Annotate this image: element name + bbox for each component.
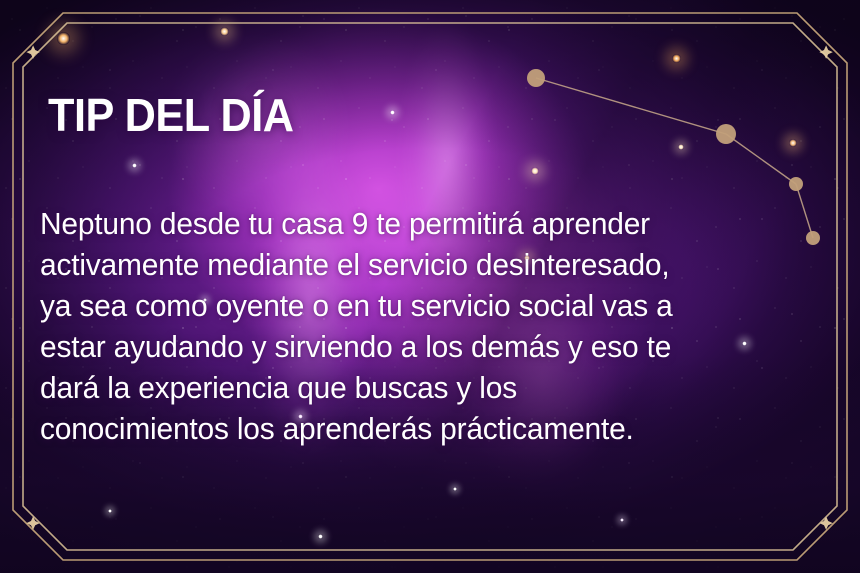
tip-body-line: Neptuno desde tu casa 9 te permitirá apr… [40,203,802,244]
glow-star [390,110,395,115]
tip-body-line: conocimientos los aprenderás prácticamen… [40,408,802,449]
page-title: TIP DEL DÍA [48,92,294,138]
tip-body-text: Neptuno desde tu casa 9 te permitirá apr… [40,203,830,449]
glow-star [108,509,112,513]
glow-star [672,54,681,63]
glow-star [678,144,684,150]
glow-star [620,518,624,522]
tip-del-dia-card: TIP DEL DÍA Neptuno desde tu casa 9 te p… [0,0,860,573]
glow-star [132,163,137,168]
tip-body-line: ya sea como oyente o en tu servicio soci… [40,285,802,326]
glow-star [220,27,229,36]
glow-star [531,167,539,175]
tip-body-line: estar ayudando y sirviendo a los demás y… [40,326,802,367]
glow-star [57,32,70,45]
glow-star [318,534,323,539]
glow-star [789,139,797,147]
tip-body-line: activamente mediante el servicio desinte… [40,244,802,285]
tip-body-line: dará la experiencia que buscas y los [40,367,802,408]
glow-star [453,487,457,491]
